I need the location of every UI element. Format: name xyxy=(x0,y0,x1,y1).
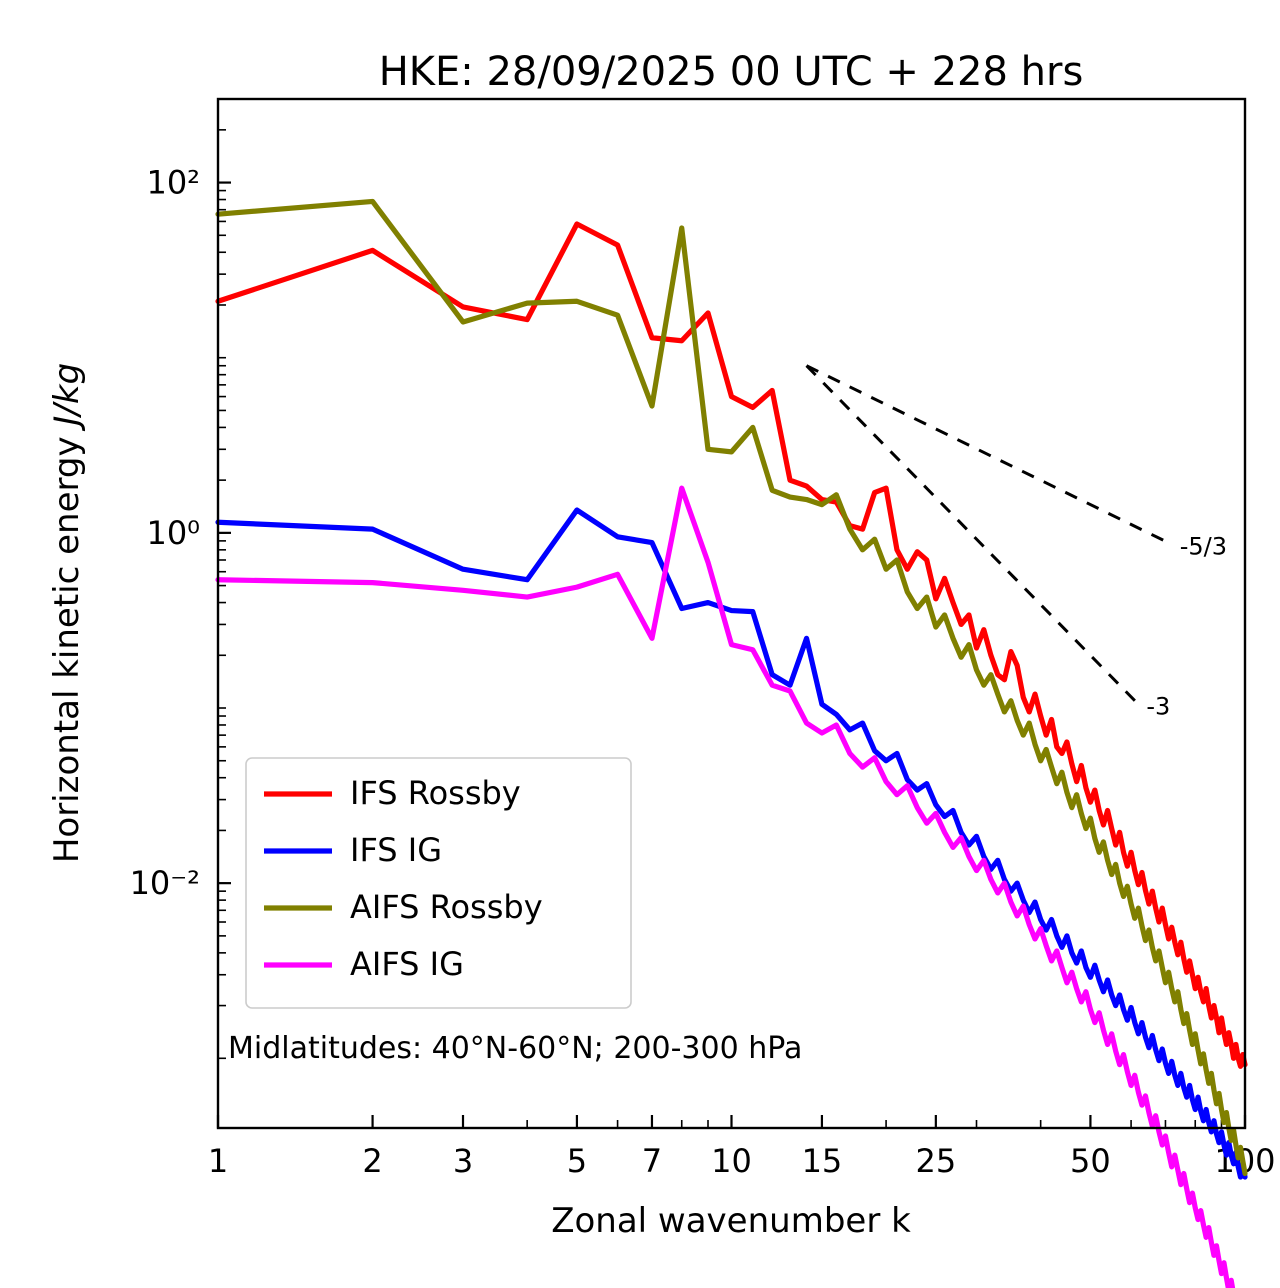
reference-label--3: -3 xyxy=(1146,692,1170,720)
reference-label--5-3: -5/3 xyxy=(1180,532,1227,560)
legend-label-aifs-ig[interactable]: AIFS IG xyxy=(350,945,464,983)
x-tick-label-10: 10 xyxy=(711,1142,752,1180)
chart-legend[interactable]: IFS RossbyIFS IGAIFS RossbyAIFS IG xyxy=(246,758,631,1008)
page-title: HKE: 28/09/2025 00 UTC + 228 hrs xyxy=(379,49,1084,95)
region-annotation: Midlatitudes: 40°N-60°N; 200-300 hPa xyxy=(228,1031,802,1066)
y-axis-label: Horizontal kinetic energy J/kg xyxy=(47,363,87,863)
x-tick-label-5: 5 xyxy=(567,1142,587,1180)
y-tick-label-2: 10⁻² xyxy=(130,864,200,902)
legend-label-aifs-rossby[interactable]: AIFS Rossby xyxy=(350,888,543,926)
x-axis-label: Zonal wavenumber k xyxy=(551,1201,911,1241)
y-tick-label-1: 10⁰ xyxy=(146,514,200,552)
y-tick-label-0: 10² xyxy=(146,164,200,202)
y-axis-label-units: J/kg xyxy=(47,363,87,432)
x-tick-label-7: 7 xyxy=(642,1142,662,1180)
legend-label-ifs-ig[interactable]: IFS IG xyxy=(350,831,442,869)
x-tick-label-3: 3 xyxy=(453,1142,473,1180)
x-tick-label-25: 25 xyxy=(915,1142,956,1180)
x-tick-label-15: 15 xyxy=(802,1142,843,1180)
x-tick-label-2: 2 xyxy=(362,1142,382,1180)
y-axis-label-main: Horizontal kinetic energy xyxy=(47,426,87,864)
figure-canvas: HKE: 28/09/2025 00 UTC + 228 hrs 1235710… xyxy=(0,0,1280,1288)
legend-label-ifs-rossby[interactable]: IFS Rossby xyxy=(350,774,521,812)
hke-spectrum-chart: HKE: 28/09/2025 00 UTC + 228 hrs 1235710… xyxy=(0,0,1280,1288)
x-tick-label-50: 50 xyxy=(1070,1142,1111,1180)
x-tick-label-1: 1 xyxy=(208,1142,228,1180)
